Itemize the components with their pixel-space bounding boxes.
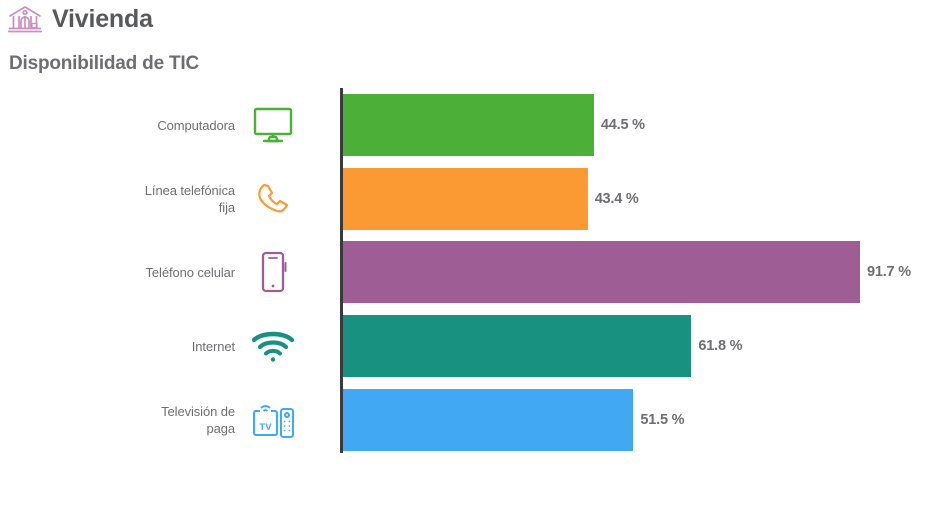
bar-group: 91.7 % — [343, 241, 911, 303]
category-label: Televisión de paga — [40, 403, 235, 437]
bar-value-label: 91.7 % — [867, 264, 911, 280]
wifi-icon — [245, 321, 301, 371]
page-title: Vivienda — [52, 7, 153, 32]
chart-row-computadora: Computadora 44.5 % — [0, 88, 928, 162]
category-label: Línea telefónica fija — [40, 182, 235, 216]
category-label-line: Teléfono celular — [40, 264, 235, 281]
bar-telefono-celular — [343, 241, 860, 303]
mobile-phone-icon — [245, 247, 301, 297]
chart-subtitle: Disponibilidad de TIC — [9, 53, 199, 75]
category-label-line: Línea telefónica — [40, 182, 235, 199]
monitor-icon — [245, 100, 301, 150]
tv-remote-icon: TV — [245, 395, 301, 445]
bar-value-label: 44.5 % — [601, 117, 645, 133]
bar-linea-telefonica-fija — [343, 168, 588, 230]
bar-internet — [343, 315, 691, 377]
category-label: Teléfono celular — [40, 264, 235, 281]
chart-row-telefono-celular: Teléfono celular 91.7 % — [0, 235, 928, 309]
category-label-line: fija — [40, 199, 235, 216]
bar-group: 43.4 % — [343, 168, 639, 230]
bar-group: 51.5 % — [343, 389, 684, 451]
bar-group: 61.8 % — [343, 315, 742, 377]
category-label-line: Internet — [40, 338, 235, 355]
house-icon — [8, 4, 42, 34]
chart-row-linea-telefonica-fija: Línea telefónica fija 43.4 % — [0, 162, 928, 236]
category-label-line: Computadora — [40, 117, 235, 134]
bar-chart: Computadora 44.5 % Línea telefónica fija — [0, 88, 928, 458]
chart-row-television-de-paga: Televisión de paga TV 51.5 % — [0, 383, 928, 457]
svg-text:TV: TV — [259, 422, 272, 433]
category-label: Computadora — [40, 117, 235, 134]
phone-handset-icon — [245, 174, 301, 224]
chart-row-internet: Internet 61.8 % — [0, 309, 928, 383]
bar-value-label: 61.8 % — [698, 338, 742, 354]
bar-computadora — [343, 94, 594, 156]
bar-value-label: 43.4 % — [595, 191, 639, 207]
bar-television-de-paga — [343, 389, 633, 451]
page-header: Vivienda — [8, 4, 153, 34]
category-label: Internet — [40, 338, 235, 355]
category-label-line: Televisión de — [40, 403, 235, 420]
category-label-line: paga — [40, 420, 235, 437]
bar-value-label: 51.5 % — [640, 412, 684, 428]
bar-group: 44.5 % — [343, 94, 645, 156]
